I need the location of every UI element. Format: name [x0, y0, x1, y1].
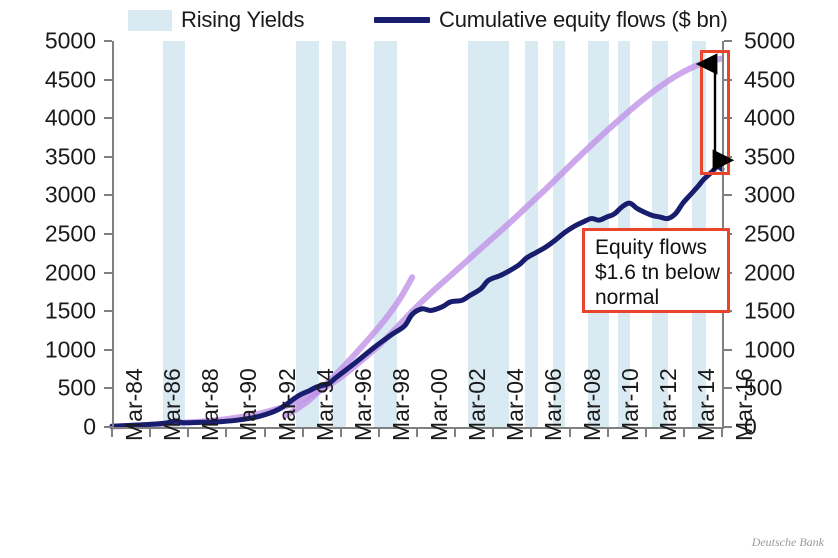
x-tick	[492, 429, 494, 437]
x-axis-label: Mar-02	[464, 368, 491, 441]
legend-item-cumulative-equity-flows: Cumulative equity flows ($ bn)	[374, 7, 728, 33]
y-tick-left	[104, 310, 112, 312]
x-tick	[149, 429, 151, 437]
legend-label-rising-yields: Rising Yields	[181, 7, 304, 33]
x-axis-label: Mar-12	[655, 368, 682, 441]
y-axis-label-right: 1500	[744, 298, 795, 325]
x-axis-label: Mar-10	[617, 368, 644, 441]
y-axis-label-left: 2000	[45, 259, 96, 286]
x-axis-label: Mar-98	[388, 368, 415, 441]
y-tick-left	[104, 117, 112, 119]
y-tick-left	[104, 233, 112, 235]
y-axis-label-left: 5000	[45, 28, 96, 55]
legend-item-rising-yields: Rising Yields	[128, 7, 304, 33]
y-axis-label-left: 4000	[45, 105, 96, 132]
x-tick	[225, 429, 227, 437]
x-axis-label: Mar-06	[540, 368, 567, 441]
x-tick	[416, 429, 418, 437]
x-axis-label: Mar-86	[159, 368, 186, 441]
y-axis-left	[112, 41, 114, 428]
y-axis-label-right: 2000	[744, 259, 795, 286]
y-axis-label-left: 1000	[45, 336, 96, 363]
x-axis-label: Mar-14	[693, 368, 720, 441]
x-axis-label: Mar-16	[731, 368, 758, 441]
y-axis-label-left: 0	[83, 414, 96, 441]
x-axis-label: Mar-94	[312, 368, 339, 441]
x-axis-label: Mar-04	[502, 368, 529, 441]
x-tick	[607, 429, 609, 437]
x-tick	[378, 429, 380, 437]
y-tick-left	[104, 40, 112, 42]
legend-band-swatch	[128, 10, 172, 31]
x-axis-label: Mar-00	[426, 368, 453, 441]
x-tick	[111, 429, 113, 437]
x-axis-label: Mar-08	[579, 368, 606, 441]
y-axis-label-left: 2500	[45, 221, 96, 248]
legend-label-cumulative-equity-flows: Cumulative equity flows ($ bn)	[439, 7, 728, 33]
y-axis-label-left: 4500	[45, 66, 96, 93]
x-tick	[569, 429, 571, 437]
y-axis-label-right: 1000	[744, 336, 795, 363]
annotation-line-2: $1.6 tn below	[595, 260, 719, 285]
x-axis-label: Mar-92	[274, 368, 301, 441]
x-tick	[530, 429, 532, 437]
x-tick	[454, 429, 456, 437]
y-tick-left	[104, 156, 112, 158]
legend-line-swatch	[374, 17, 430, 23]
y-axis-label-right: 3500	[744, 143, 795, 170]
y-tick-right	[724, 40, 732, 42]
y-tick-left	[104, 272, 112, 274]
x-axis-label: Mar-96	[350, 368, 377, 441]
y-tick-right	[724, 194, 732, 196]
x-tick	[683, 429, 685, 437]
chart-root: Rising Yields Cumulative equity flows ($…	[0, 0, 838, 558]
y-tick-left	[104, 387, 112, 389]
y-axis-label-right: 5000	[744, 28, 795, 55]
y-tick-left	[104, 426, 112, 428]
annotation-box-equity-flows: Equity flows $1.6 tn below normal	[582, 228, 730, 313]
x-tick	[340, 429, 342, 437]
gap-double-arrow-icon	[700, 50, 730, 174]
y-axis-label-right: 3000	[744, 182, 795, 209]
y-axis-label-right: 4500	[744, 66, 795, 93]
y-axis-label-right: 2500	[744, 221, 795, 248]
x-axis-label: Mar-84	[121, 368, 148, 441]
x-tick	[645, 429, 647, 437]
x-axis-label: Mar-88	[197, 368, 224, 441]
y-tick-left	[104, 349, 112, 351]
y-axis-label-left: 500	[58, 375, 96, 402]
annotation-line-3: normal	[595, 285, 719, 310]
y-axis-label-left: 3500	[45, 143, 96, 170]
y-tick-left	[104, 194, 112, 196]
x-tick	[302, 429, 304, 437]
chart-legend: Rising Yields Cumulative equity flows ($…	[0, 4, 838, 36]
y-axis-label-right: 4000	[744, 105, 795, 132]
y-tick-left	[104, 79, 112, 81]
x-axis-label: Mar-90	[235, 368, 262, 441]
x-tick	[264, 429, 266, 437]
y-tick-right	[724, 349, 732, 351]
y-axis-label-left: 3000	[45, 182, 96, 209]
x-tick	[721, 429, 723, 437]
source-attribution: Deutsche Bank	[752, 535, 824, 550]
x-tick	[187, 429, 189, 437]
y-axis-label-left: 1500	[45, 298, 96, 325]
annotation-line-1: Equity flows	[595, 235, 719, 260]
